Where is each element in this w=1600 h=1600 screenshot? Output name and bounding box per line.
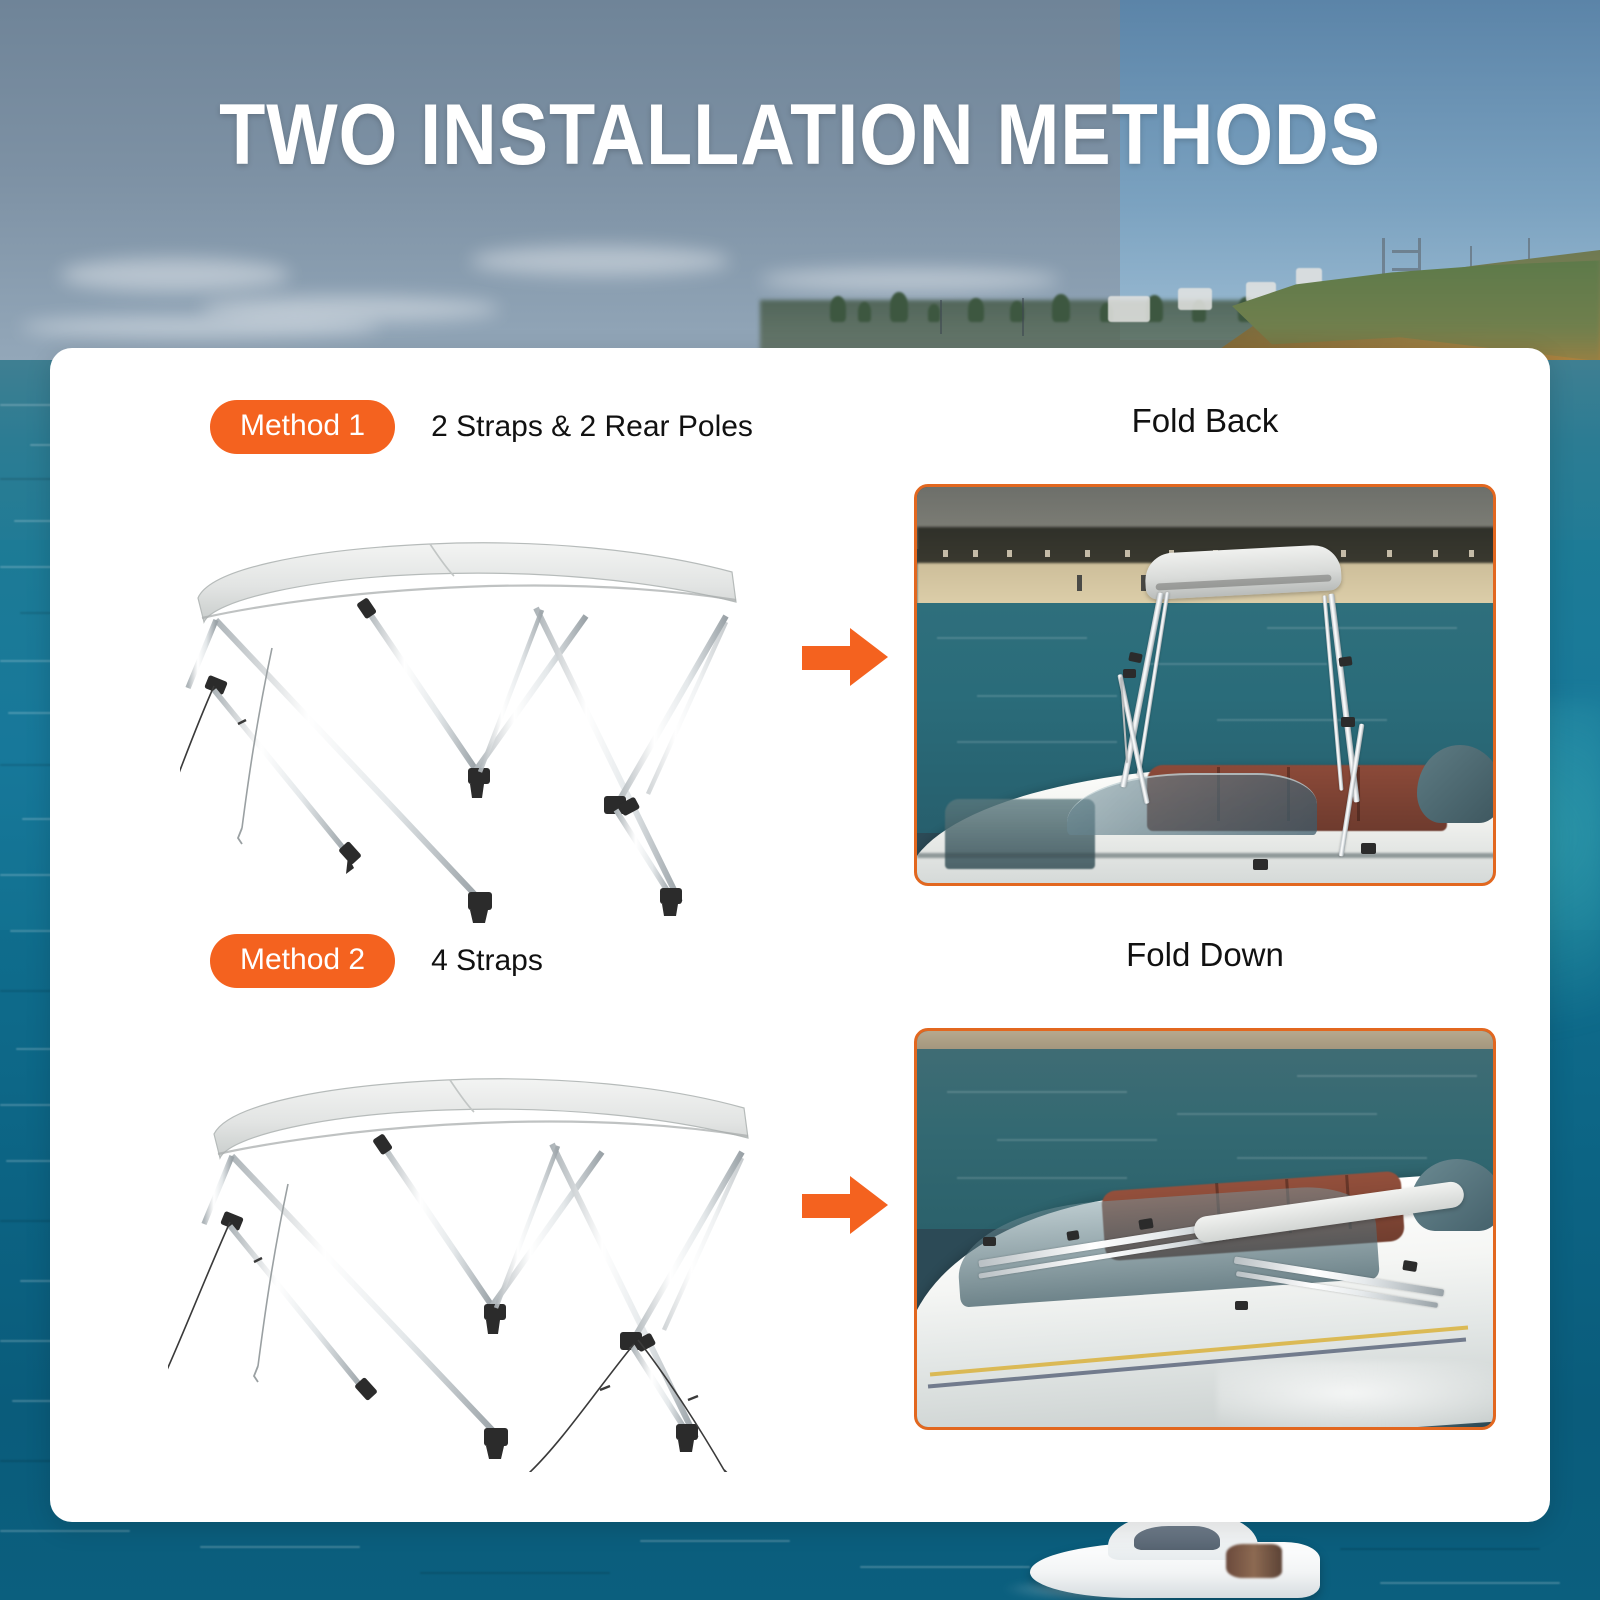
- method-1-result-label: Fold Back: [910, 402, 1500, 440]
- canopy-fabric: [214, 1079, 748, 1158]
- strap: [180, 686, 214, 832]
- photo-fold-down: [914, 1028, 1496, 1430]
- cloud: [470, 246, 730, 276]
- method-2-result-label: Fold Down: [910, 936, 1500, 974]
- method-1-description: 2 Straps & 2 Rear Poles: [431, 410, 753, 444]
- rear-pole: [648, 622, 726, 794]
- bimini-diagram-method-1: [180, 510, 780, 930]
- deck-mount: [470, 784, 484, 798]
- method-2-header: Method 2 4 Straps: [210, 934, 543, 988]
- hillside-building: [1178, 288, 1212, 310]
- method-1-header: Method 1 2 Straps & 2 Rear Poles: [210, 400, 753, 454]
- method-block-2: Method 2 4 Straps Fold Down: [50, 934, 1550, 1474]
- mast: [940, 300, 942, 334]
- mast: [1022, 298, 1024, 336]
- method-2-badge: Method 2: [210, 934, 395, 988]
- canopy-fabric: [198, 543, 736, 622]
- cloud: [20, 316, 380, 338]
- content-card: Method 1 2 Straps & 2 Rear Poles Fold Ba…: [50, 348, 1550, 1522]
- bimini-diagram-method-2: [168, 1042, 788, 1472]
- arrow-icon: [802, 628, 888, 686]
- radio-tower-crossbar: [1392, 268, 1418, 271]
- page-title: TWO INSTALLATION METHODS: [96, 92, 1504, 178]
- hillside-building: [1108, 296, 1150, 322]
- radio-tower-crossbar: [1392, 250, 1418, 253]
- method-1-badge: Method 1: [210, 400, 395, 454]
- strap: [528, 1344, 634, 1472]
- method-block-1: Method 1 2 Straps & 2 Rear Poles Fold Ba…: [50, 400, 1550, 930]
- photo-fold-back: [914, 484, 1496, 886]
- arrow-icon: [802, 1176, 888, 1234]
- method-2-description: 4 Straps: [431, 944, 543, 978]
- cloud: [60, 258, 290, 292]
- infographic-canvas: TWO INSTALLATION METHODS Method 1 2 Stra…: [0, 0, 1600, 1600]
- strap: [168, 1222, 230, 1372]
